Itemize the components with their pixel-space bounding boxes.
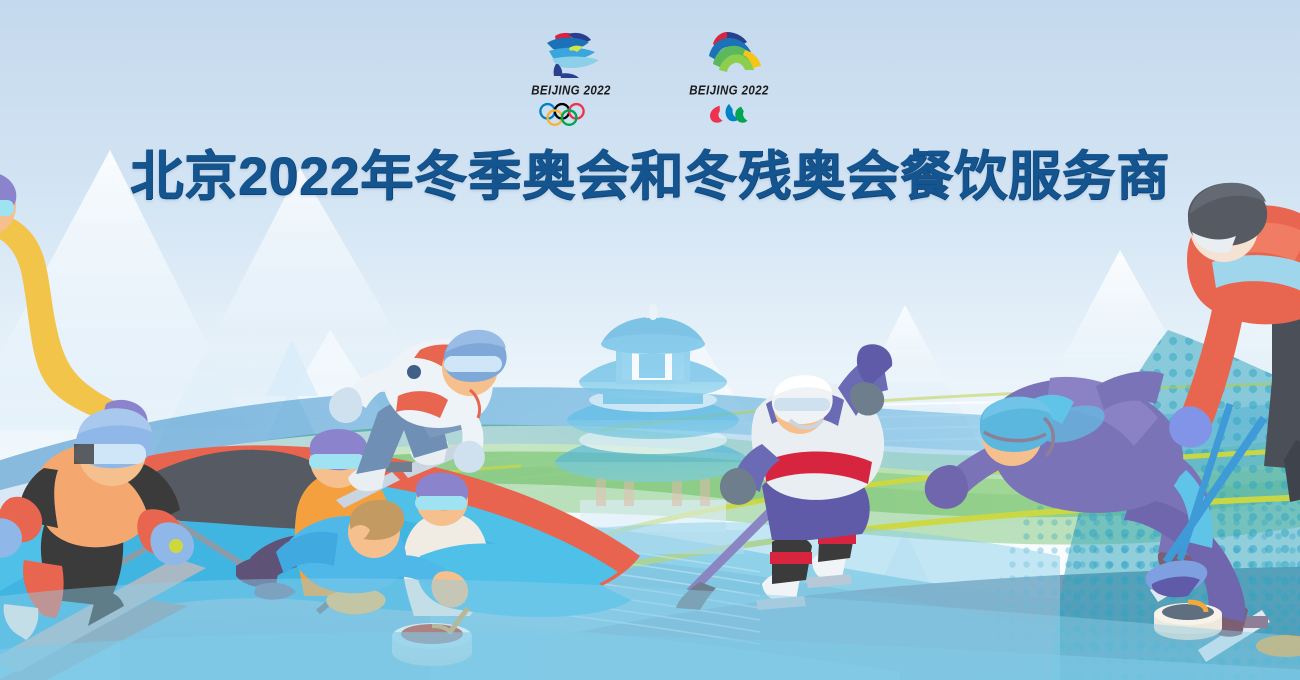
beijing-2022-banner: BEIJING 2022 BEIJING 20 (0, 0, 1300, 680)
olympic-rings-icon (535, 101, 607, 127)
olympic-emblem-mark (525, 30, 617, 80)
olympic-wordmark: BEIJING 2022 (531, 84, 611, 97)
banner-title: 北京2022年冬季奥会和冬残奥会餐饮服务商 (0, 146, 1300, 208)
agitos-icon (701, 101, 757, 127)
paralympic-emblem-mark (683, 30, 775, 80)
emblem-row: BEIJING 2022 BEIJING 20 (0, 30, 1300, 138)
beijing-2022-olympic-emblem: BEIJING 2022 (515, 30, 627, 127)
beijing-2022-paralympic-emblem: BEIJING 2022 (673, 30, 785, 127)
paralympic-wordmark: BEIJING 2022 (689, 84, 769, 97)
